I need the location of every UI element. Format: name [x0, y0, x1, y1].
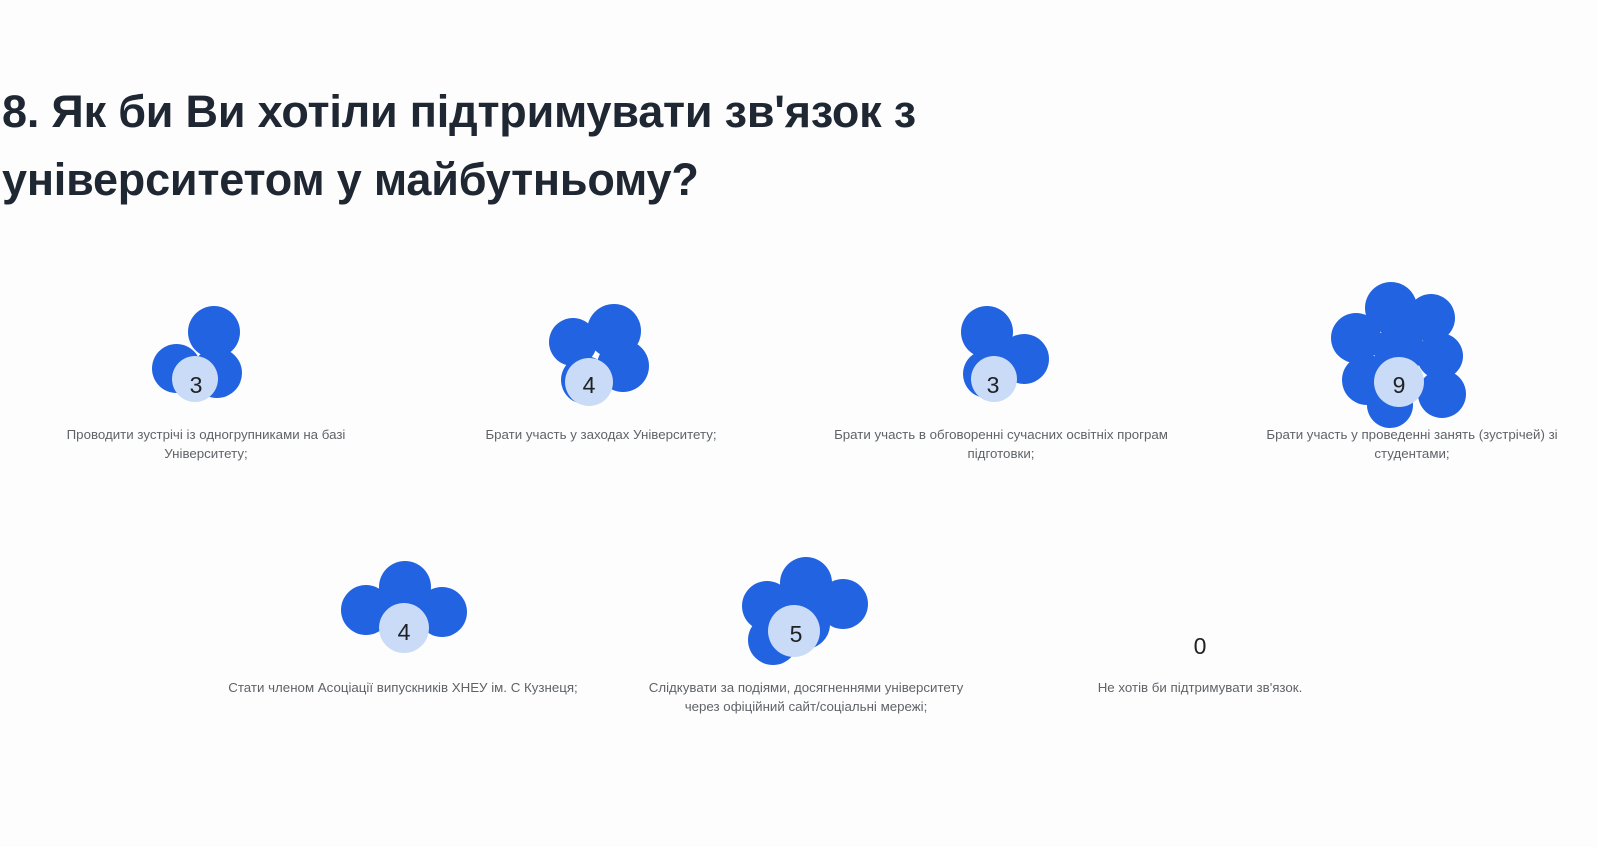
dot-cluster: 9: [1202, 277, 1597, 420]
dot-cluster: 4: [391, 300, 811, 420]
cluster-value: 3: [166, 374, 226, 397]
dot-cluster: 4: [193, 553, 613, 673]
chart-item[interactable]: 3 Проводити зустрічі із одногрупниками н…: [0, 300, 416, 464]
cluster-value: 9: [1369, 374, 1429, 397]
chart-item-label: Брати участь у проведенні занять (зустрі…: [1202, 426, 1597, 464]
cluster-value: 0: [1170, 635, 1230, 658]
chart-item[interactable]: 4 Брати участь у заходах Університету;: [391, 300, 811, 445]
chart-item-label: Слідкувати за подіями, досягненнями унів…: [596, 679, 1016, 717]
chart-item[interactable]: 4 Стати членом Асоціації випускників ХНЕ…: [193, 553, 613, 698]
dot-cluster: 3: [0, 300, 416, 420]
chart-item-label: Стати членом Асоціації випускників ХНЕУ …: [193, 679, 613, 698]
cluster-value: 3: [963, 374, 1023, 397]
cluster-value: 4: [374, 621, 434, 644]
cluster-value: 4: [559, 374, 619, 397]
dot-cluster: 3: [791, 300, 1211, 420]
chart-item-label: Не хотів би підтримувати зв'язок.: [990, 679, 1410, 698]
chart-item-label: Проводити зустрічі із одногрупниками на …: [0, 426, 416, 464]
chart-item-label: Брати участь у заходах Університету;: [391, 426, 811, 445]
cluster-value: 5: [766, 623, 826, 646]
chart-item[interactable]: 5 Слідкувати за подіями, досягненнями ун…: [596, 553, 1016, 717]
chart-item[interactable]: 0 Не хотів би підтримувати зв'язок.: [990, 553, 1410, 698]
chart-item[interactable]: 9 Брати участь у проведенні занять (зуст…: [1202, 277, 1597, 464]
dot-cluster: 0: [990, 553, 1410, 673]
chart-item-label: Брати участь в обговоренні сучасних осві…: [791, 426, 1211, 464]
dot-cluster: 5: [596, 553, 1016, 673]
pictogram-chart: 3 Проводити зустрічі із одногрупниками н…: [0, 0, 1597, 847]
chart-item[interactable]: 3 Брати участь в обговоренні сучасних ос…: [791, 300, 1211, 464]
